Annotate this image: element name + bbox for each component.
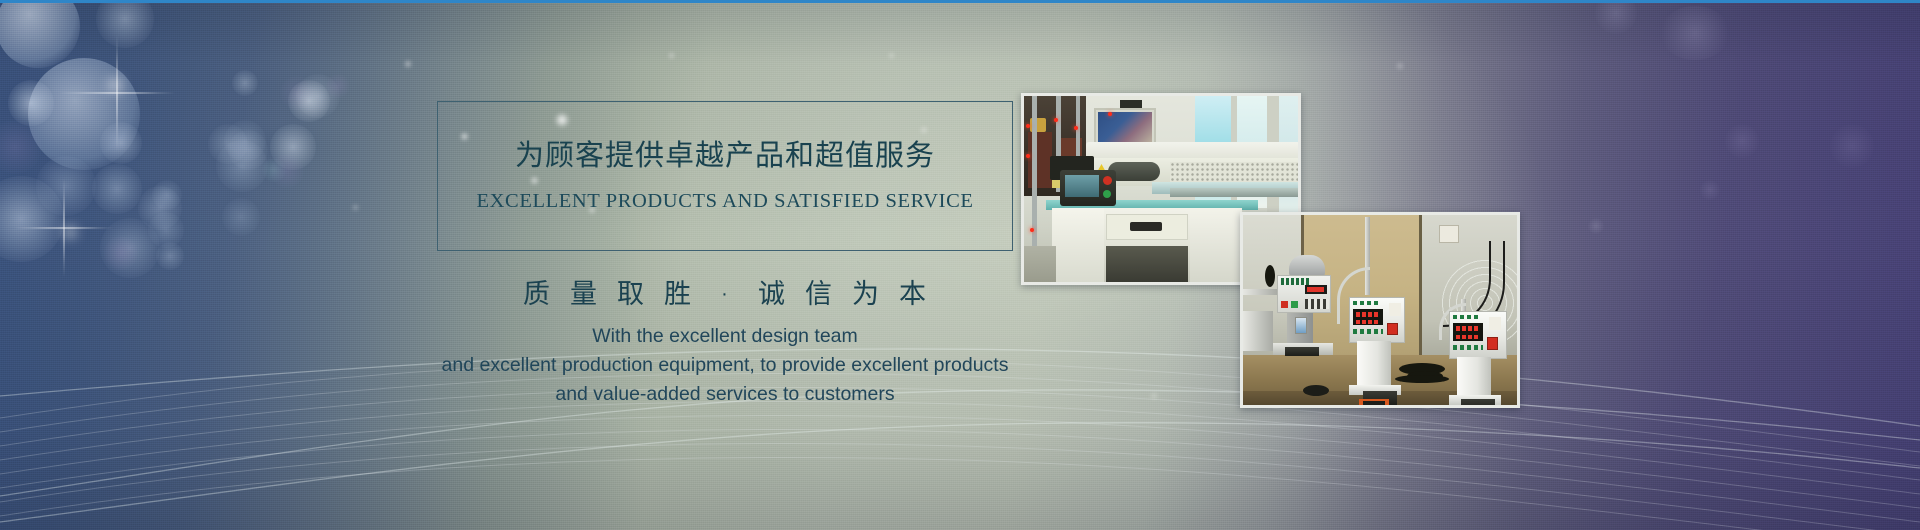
slogan-char: 本 (890, 272, 937, 311)
top-accent-rule (0, 0, 1920, 3)
headline-chinese: 为顾客提供卓越产品和超值服务 (438, 132, 1012, 174)
background-grain (0, 0, 1920, 530)
slogan-char: 胜 (655, 272, 702, 311)
slogan-char: 为 (843, 272, 890, 311)
slogan-separator-dot: · (702, 283, 749, 306)
slogan-char: 量 (561, 272, 608, 311)
headline-english: EXCELLENT PRODUCTS AND SATISFIED SERVICE (438, 190, 1012, 213)
headline-box: 为顾客提供卓越产品和超值服务 EXCELLENT PRODUCTS AND SA… (437, 101, 1013, 251)
description-paragraph: With the excellent design team and excel… (337, 322, 1113, 409)
photo-riveting-press-machines (1240, 212, 1520, 408)
slogan-char: 诚 (749, 272, 796, 311)
slogan-char: 信 (796, 272, 843, 311)
slogan-chinese: 质量取胜·诚信为本 (437, 272, 1013, 311)
paragraph-line: and value-added services to customers (337, 380, 1113, 409)
slogan-char: 取 (608, 272, 655, 311)
slogan-char: 质 (514, 272, 561, 311)
paragraph-line: With the excellent design team (337, 322, 1113, 351)
paragraph-line: and excellent production equipment, to p… (337, 351, 1113, 380)
company-quality-slogan-banner: 为顾客提供卓越产品和超值服务 EXCELLENT PRODUCTS AND SA… (0, 0, 1920, 530)
